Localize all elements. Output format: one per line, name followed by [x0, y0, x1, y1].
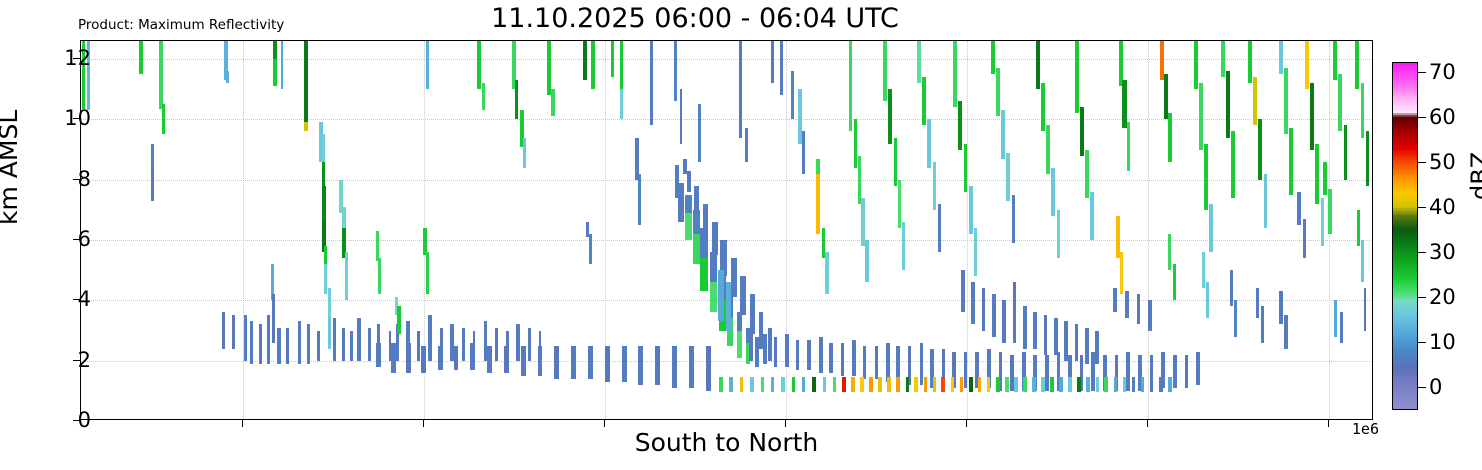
- reflectivity-cell: [1234, 300, 1237, 336]
- reflectivity-cell: [397, 306, 400, 333]
- reflectivity-cell: [583, 41, 587, 80]
- reflectivity-cell: [357, 318, 361, 360]
- reflectivity-cell: [1199, 83, 1203, 149]
- y-axis-tick-label: 8: [31, 167, 91, 191]
- reflectivity-cell: [960, 377, 963, 392]
- reflectivity-cell: [504, 346, 509, 373]
- reflectivity-cell: [1206, 282, 1209, 318]
- reflectivity-cell: [823, 377, 827, 392]
- reflectivity-cell: [345, 252, 348, 300]
- reflectivity-cell: [887, 377, 891, 392]
- reflectivity-cell: [638, 346, 643, 385]
- reflectivity-cell: [1090, 192, 1093, 240]
- reflectivity-cell: [883, 41, 887, 101]
- x-axis-tick-mark: [242, 420, 243, 427]
- reflectivity-cell: [700, 258, 708, 291]
- reflectivity-cell: [906, 377, 909, 392]
- colorbar-gradient: [1392, 62, 1418, 410]
- x-axis-tick-mark: [423, 420, 424, 427]
- reflectivity-cell: [620, 41, 624, 89]
- reflectivity-cell: [825, 252, 829, 294]
- reflectivity-cell: [816, 174, 820, 234]
- reflectivity-cell: [869, 377, 873, 392]
- colorbar-tick-mark: [1418, 387, 1426, 388]
- reflectivity-cell: [267, 315, 271, 363]
- colorbar-tick-mark: [1418, 72, 1426, 73]
- x-axis-tick-mark: [604, 420, 605, 427]
- reflectivity-cell: [1127, 122, 1131, 170]
- reflectivity-cell: [1209, 204, 1212, 252]
- reflectivity-cell: [829, 343, 833, 373]
- reflectivity-cell: [771, 377, 774, 392]
- reflectivity-cell: [151, 144, 154, 168]
- reflectivity-cell: [672, 346, 677, 388]
- radar-cross-section-figure: Product: Maximum Reflectivity 11.10.2025…: [0, 0, 1482, 470]
- reflectivity-cell: [304, 41, 308, 122]
- reflectivity-cell: [1080, 107, 1084, 155]
- colorbar-band: [1393, 407, 1417, 409]
- reflectivity-cell: [421, 346, 426, 373]
- reflectivity-cell: [1054, 318, 1057, 354]
- reflectivity-cell: [1006, 153, 1009, 201]
- colorbar-tick-label: 30: [1429, 240, 1456, 264]
- reflectivity-cell: [982, 288, 986, 330]
- reflectivity-cell: [1284, 68, 1288, 134]
- reflectivity-cell: [739, 41, 742, 138]
- reflectivity-cell: [482, 83, 485, 110]
- reflectivity-cell: [1305, 41, 1309, 89]
- reflectivity-cell: [1196, 352, 1200, 385]
- reflectivity-cell: [523, 138, 526, 168]
- reflectivity-cell: [487, 346, 492, 373]
- y-axis-tick-label: 2: [31, 348, 91, 372]
- reflectivity-cell: [785, 334, 789, 367]
- reflectivity-cell: [1230, 270, 1233, 306]
- reflectivity-cell: [896, 377, 900, 392]
- reflectivity-cell: [1096, 377, 1099, 392]
- colorbar-tick-label: 20: [1429, 285, 1456, 309]
- x-axis-label: South to North: [0, 428, 1453, 457]
- reflectivity-cell: [969, 377, 973, 392]
- reflectivity-cell: [324, 246, 328, 264]
- reflectivity-cell: [342, 207, 345, 228]
- y-axis-tick-mark: [73, 58, 80, 59]
- reflectivity-cell: [317, 331, 320, 361]
- reflectivity-cell: [886, 343, 890, 382]
- reflectivity-cell: [693, 210, 700, 234]
- reflectivity-cell: [322, 134, 326, 161]
- reflectivity-cell: [1333, 41, 1337, 80]
- reflectivity-cell: [731, 258, 737, 297]
- reflectivity-cell: [933, 377, 936, 392]
- reflectivity-cell: [611, 41, 614, 77]
- reflectivity-cell: [307, 324, 310, 363]
- reflectivity-cell: [1361, 83, 1365, 137]
- reflectivity-cell: [749, 328, 753, 361]
- reflectivity-cell: [1068, 377, 1071, 392]
- reflectivity-cell: [1013, 282, 1017, 342]
- reflectivity-cell: [1041, 83, 1045, 131]
- reflectivity-cell: [376, 343, 381, 367]
- y-axis-tick-mark: [73, 179, 80, 180]
- reflectivity-cell: [792, 377, 796, 392]
- reflectivity-cell: [406, 343, 411, 373]
- reflectivity-cell: [1075, 324, 1079, 360]
- reflectivity-cell: [342, 328, 345, 361]
- colorbar-tick-label: 70: [1429, 60, 1456, 84]
- reflectivity-cell: [1357, 210, 1360, 246]
- reflectivity-cell: [273, 59, 277, 86]
- reflectivity-cell: [1050, 377, 1054, 392]
- reflectivity-cell: [1261, 306, 1264, 342]
- reflectivity-cell: [521, 346, 526, 376]
- reflectivity-cell: [694, 186, 699, 213]
- y-axis-tick-mark: [73, 118, 80, 119]
- reflectivity-columns: [81, 41, 1372, 419]
- reflectivity-cell: [729, 377, 733, 392]
- reflectivity-cell: [1194, 41, 1198, 89]
- reflectivity-cell: [718, 270, 723, 321]
- reflectivity-cell: [151, 168, 154, 201]
- reflectivity-cell: [391, 343, 396, 373]
- reflectivity-cell: [996, 68, 1000, 116]
- x-axis-tick-mark: [966, 420, 967, 427]
- reflectivity-cell: [551, 89, 554, 116]
- reflectivity-cell: [878, 377, 881, 392]
- reflectivity-cell: [426, 252, 429, 294]
- reflectivity-cell: [953, 41, 957, 107]
- reflectivity-cell: [812, 377, 816, 392]
- y-axis-tick-mark: [73, 420, 80, 421]
- x-axis-tick-mark: [785, 420, 786, 427]
- reflectivity-cell: [591, 41, 595, 89]
- reflectivity-cell: [1033, 312, 1037, 348]
- reflectivity-cell: [162, 104, 165, 134]
- reflectivity-cell: [1284, 315, 1287, 348]
- reflectivity-cell: [974, 228, 977, 276]
- reflectivity-cell: [819, 337, 823, 373]
- reflectivity-cell: [924, 377, 928, 392]
- y-axis-tick-label: 4: [31, 287, 91, 311]
- reflectivity-cell: [1344, 125, 1348, 179]
- reflectivity-cell: [860, 377, 864, 392]
- reflectivity-cell: [650, 41, 653, 125]
- reflectivity-cell: [941, 377, 945, 392]
- reflectivity-cell: [898, 180, 902, 228]
- reflectivity-cell: [1204, 144, 1208, 210]
- reflectivity-cell: [693, 234, 700, 264]
- reflectivity-cell: [858, 156, 861, 204]
- reflectivity-cell: [894, 138, 898, 186]
- reflectivity-cell: [771, 41, 774, 83]
- y-axis-tick-label: 0: [31, 408, 91, 432]
- reflectivity-cell: [622, 346, 627, 382]
- y-axis-tick-mark: [73, 299, 80, 300]
- reflectivity-cell: [605, 346, 610, 382]
- reflectivity-cell: [1122, 80, 1126, 128]
- colorbar-tick-mark: [1418, 207, 1426, 208]
- reflectivity-cell: [516, 324, 519, 360]
- reflectivity-cell: [1120, 252, 1123, 294]
- reflectivity-cell: [259, 324, 262, 363]
- reflectivity-cell: [1059, 377, 1063, 392]
- reflectivity-cell: [802, 377, 805, 392]
- reflectivity-cell: [368, 328, 371, 361]
- reflectivity-cell: [1125, 291, 1129, 318]
- reflectivity-cell: [951, 377, 955, 392]
- reflectivity-cell: [678, 183, 683, 222]
- y-axis-tick-label: 10: [31, 106, 91, 130]
- reflectivity-cell: [1303, 219, 1306, 258]
- reflectivity-cell: [807, 340, 810, 370]
- reflectivity-cell: [554, 346, 559, 379]
- reflectivity-cell: [1114, 377, 1118, 392]
- reflectivity-cell: [528, 328, 531, 361]
- reflectivity-cell: [689, 346, 694, 388]
- reflectivity-cell: [222, 312, 225, 348]
- reflectivity-cell: [304, 122, 308, 131]
- reflectivity-cell: [1258, 119, 1262, 179]
- reflectivity-cell: [698, 104, 701, 161]
- reflectivity-cell: [1321, 198, 1324, 246]
- reflectivity-cell: [1253, 77, 1257, 125]
- reflectivity-cell: [1159, 377, 1163, 392]
- reflectivity-cell: [852, 340, 856, 376]
- reflectivity-cell: [978, 377, 982, 392]
- reflectivity-cell: [538, 346, 543, 376]
- reflectivity-cell: [875, 346, 878, 379]
- reflectivity-cell: [712, 222, 718, 255]
- reflectivity-cell: [685, 213, 691, 240]
- reflectivity-cell: [958, 101, 962, 149]
- reflectivity-cell: [1340, 312, 1343, 342]
- reflectivity-cell: [620, 89, 624, 119]
- reflectivity-cell: [917, 41, 921, 83]
- reflectivity-cell: [865, 240, 868, 282]
- y-axis-tick-mark: [73, 239, 80, 240]
- reflectivity-cell: [938, 204, 941, 252]
- reflectivity-cell: [745, 128, 748, 161]
- reflectivity-cell: [1005, 377, 1009, 392]
- reflectivity-cell: [1361, 240, 1364, 282]
- colorbar-tick-label: 0: [1429, 375, 1442, 399]
- reflectivity-cell: [428, 315, 432, 360]
- reflectivity-cell: [710, 282, 717, 312]
- reflectivity-cell: [1338, 74, 1342, 131]
- reflectivity-cell: [961, 270, 964, 312]
- reflectivity-cell: [991, 41, 995, 74]
- reflectivity-cell: [426, 41, 429, 89]
- reflectivity-cell: [1202, 252, 1205, 288]
- reflectivity-cell: [139, 41, 143, 74]
- reflectivity-cell: [1044, 315, 1048, 354]
- reflectivity-cell: [1168, 377, 1172, 392]
- y-axis-tick-label: 6: [31, 227, 91, 251]
- colorbar-tick-mark: [1418, 297, 1426, 298]
- reflectivity-cell: [849, 41, 853, 131]
- reflectivity-cell: [328, 318, 331, 348]
- reflectivity-cell: [1173, 355, 1177, 388]
- reflectivity-cell: [933, 162, 936, 210]
- reflectivity-cell: [1075, 41, 1079, 113]
- reflectivity-cell: [588, 346, 593, 379]
- reflectivity-cell: [226, 71, 229, 83]
- reflectivity-cell: [719, 377, 723, 392]
- reflectivity-cell: [842, 377, 846, 392]
- reflectivity-cell: [1148, 300, 1152, 330]
- reflectivity-cell: [761, 377, 765, 392]
- reflectivity-cell: [495, 328, 498, 361]
- colorbar-label: dBZ: [1466, 152, 1482, 200]
- reflectivity-cell: [971, 282, 975, 324]
- reflectivity-cell: [1095, 331, 1099, 364]
- reflectivity-cell: [1010, 355, 1013, 391]
- reflectivity-cell: [1113, 288, 1117, 312]
- reflectivity-cell: [710, 252, 717, 282]
- reflectivity-cell: [281, 41, 284, 89]
- x-axis-offset-label: 1e6: [1352, 420, 1379, 438]
- reflectivity-cell: [1104, 377, 1108, 392]
- reflectivity-cell: [1279, 41, 1283, 74]
- reflectivity-cell: [1248, 41, 1252, 83]
- reflectivity-cell: [1014, 377, 1017, 392]
- reflectivity-cell: [1077, 377, 1081, 392]
- reflectivity-cell: [1323, 162, 1327, 195]
- reflectivity-cell: [1036, 41, 1040, 89]
- reflectivity-cell: [1046, 125, 1050, 173]
- reflectivity-cell: [1168, 113, 1172, 161]
- reflectivity-cell: [1023, 306, 1026, 348]
- reflectivity-cell: [250, 321, 253, 363]
- reflectivity-cell: [1045, 355, 1048, 391]
- reflectivity-cell: [286, 328, 289, 364]
- reflectivity-cell: [589, 234, 592, 264]
- reflectivity-cell: [378, 258, 381, 294]
- colorbar-tick-mark: [1418, 117, 1426, 118]
- reflectivity-cell: [796, 340, 800, 370]
- reflectivity-cell: [1132, 377, 1136, 392]
- reflectivity-cell: [703, 204, 708, 234]
- reflectivity-cell: [863, 346, 867, 379]
- reflectivity-cell: [750, 377, 754, 392]
- colorbar-tick-label: 10: [1429, 330, 1456, 354]
- reflectivity-cell: [298, 321, 301, 363]
- reflectivity-cell: [1231, 131, 1235, 197]
- reflectivity-cell: [992, 294, 995, 336]
- reflectivity-cell: [687, 171, 691, 192]
- reflectivity-cell: [438, 346, 443, 370]
- reflectivity-cell: [571, 346, 576, 379]
- reflectivity-cell: [674, 41, 677, 101]
- reflectivity-cell: [272, 294, 275, 342]
- reflectivity-cell: [706, 346, 711, 391]
- reflectivity-cell: [740, 377, 743, 392]
- reflectivity-cell: [964, 352, 968, 388]
- reflectivity-cell: [1264, 174, 1267, 228]
- reflectivity-cell: [922, 77, 926, 125]
- reflectivity-cell: [1051, 168, 1055, 216]
- reflectivity-cell: [763, 334, 767, 364]
- reflectivity-cell: [328, 288, 331, 318]
- reflectivity-cell: [333, 318, 336, 360]
- reflectivity-cell: [1279, 291, 1283, 324]
- reflectivity-cell: [1226, 71, 1230, 137]
- reflectivity-cell: [547, 41, 551, 95]
- colorbar-tick-mark: [1418, 162, 1426, 163]
- x-axis-tick-mark: [1328, 420, 1329, 427]
- reflectivity-cell: [1057, 210, 1060, 258]
- reflectivity-cell: [638, 174, 641, 225]
- reflectivity-cell: [1002, 300, 1006, 342]
- reflectivity-cell: [781, 377, 785, 392]
- reflectivity-cell: [964, 144, 968, 192]
- colorbar-tick-label: 50: [1429, 150, 1456, 174]
- reflectivity-cell: [680, 89, 683, 143]
- colorbar-tick-label: 60: [1429, 105, 1456, 129]
- reflectivity-cell: [470, 343, 475, 370]
- y-axis-tick-label: 12: [31, 46, 91, 70]
- reflectivity-cell: [1150, 377, 1153, 392]
- reflectivity-cell: [685, 195, 691, 213]
- reflectivity-cell: [1137, 294, 1140, 324]
- reflectivity-cell: [350, 331, 353, 361]
- reflectivity-cell: [322, 186, 325, 222]
- reflectivity-cell: [1023, 377, 1027, 392]
- reflectivity-cell: [774, 337, 777, 367]
- reflectivity-cell: [1012, 195, 1015, 243]
- reflectivity-cell: [1032, 377, 1036, 392]
- reflectivity-cell: [1085, 150, 1089, 198]
- reflectivity-cell: [1041, 377, 1044, 392]
- reflectivity-cell: [802, 131, 805, 173]
- reflectivity-cell: [1310, 83, 1314, 149]
- colorbar-tick-mark: [1418, 342, 1426, 343]
- reflectivity-cell: [376, 231, 379, 261]
- reflectivity-cell: [726, 282, 731, 330]
- reflectivity-cell: [902, 222, 905, 270]
- reflectivity-cell: [1355, 41, 1359, 89]
- reflectivity-cell: [816, 159, 820, 174]
- reflectivity-cell: [159, 41, 163, 109]
- reflectivity-cell: [1297, 192, 1301, 225]
- colorbar-tick-label: 40: [1429, 195, 1456, 219]
- reflectivity-cell: [423, 228, 426, 255]
- reflectivity-cell: [1001, 110, 1005, 158]
- reflectivity-cell: [768, 328, 772, 361]
- reflectivity-cell: [454, 346, 459, 370]
- reflectivity-cell: [927, 119, 931, 167]
- y-axis-tick-mark: [73, 360, 80, 361]
- reflectivity-cell: [277, 328, 280, 364]
- reflectivity-cell: [996, 377, 1000, 392]
- reflectivity-cell: [244, 315, 247, 360]
- reflectivity-cell: [232, 315, 235, 348]
- reflectivity-cell: [780, 41, 783, 95]
- reflectivity-cell: [1086, 377, 1090, 392]
- reflectivity-cell: [841, 343, 844, 376]
- reflectivity-cell: [1364, 288, 1367, 330]
- plot-area: [80, 40, 1373, 420]
- reflectivity-cell: [737, 331, 742, 358]
- y-axis-label: km AMSL: [0, 110, 23, 225]
- reflectivity-cell: [914, 377, 918, 392]
- reflectivity-cell: [1328, 189, 1331, 234]
- reflectivity-cell: [1256, 288, 1260, 318]
- reflectivity-cell: [791, 71, 794, 119]
- x-axis-tick-mark: [1147, 420, 1148, 427]
- reflectivity-cell: [1289, 128, 1293, 194]
- reflectivity-cell: [1168, 234, 1171, 270]
